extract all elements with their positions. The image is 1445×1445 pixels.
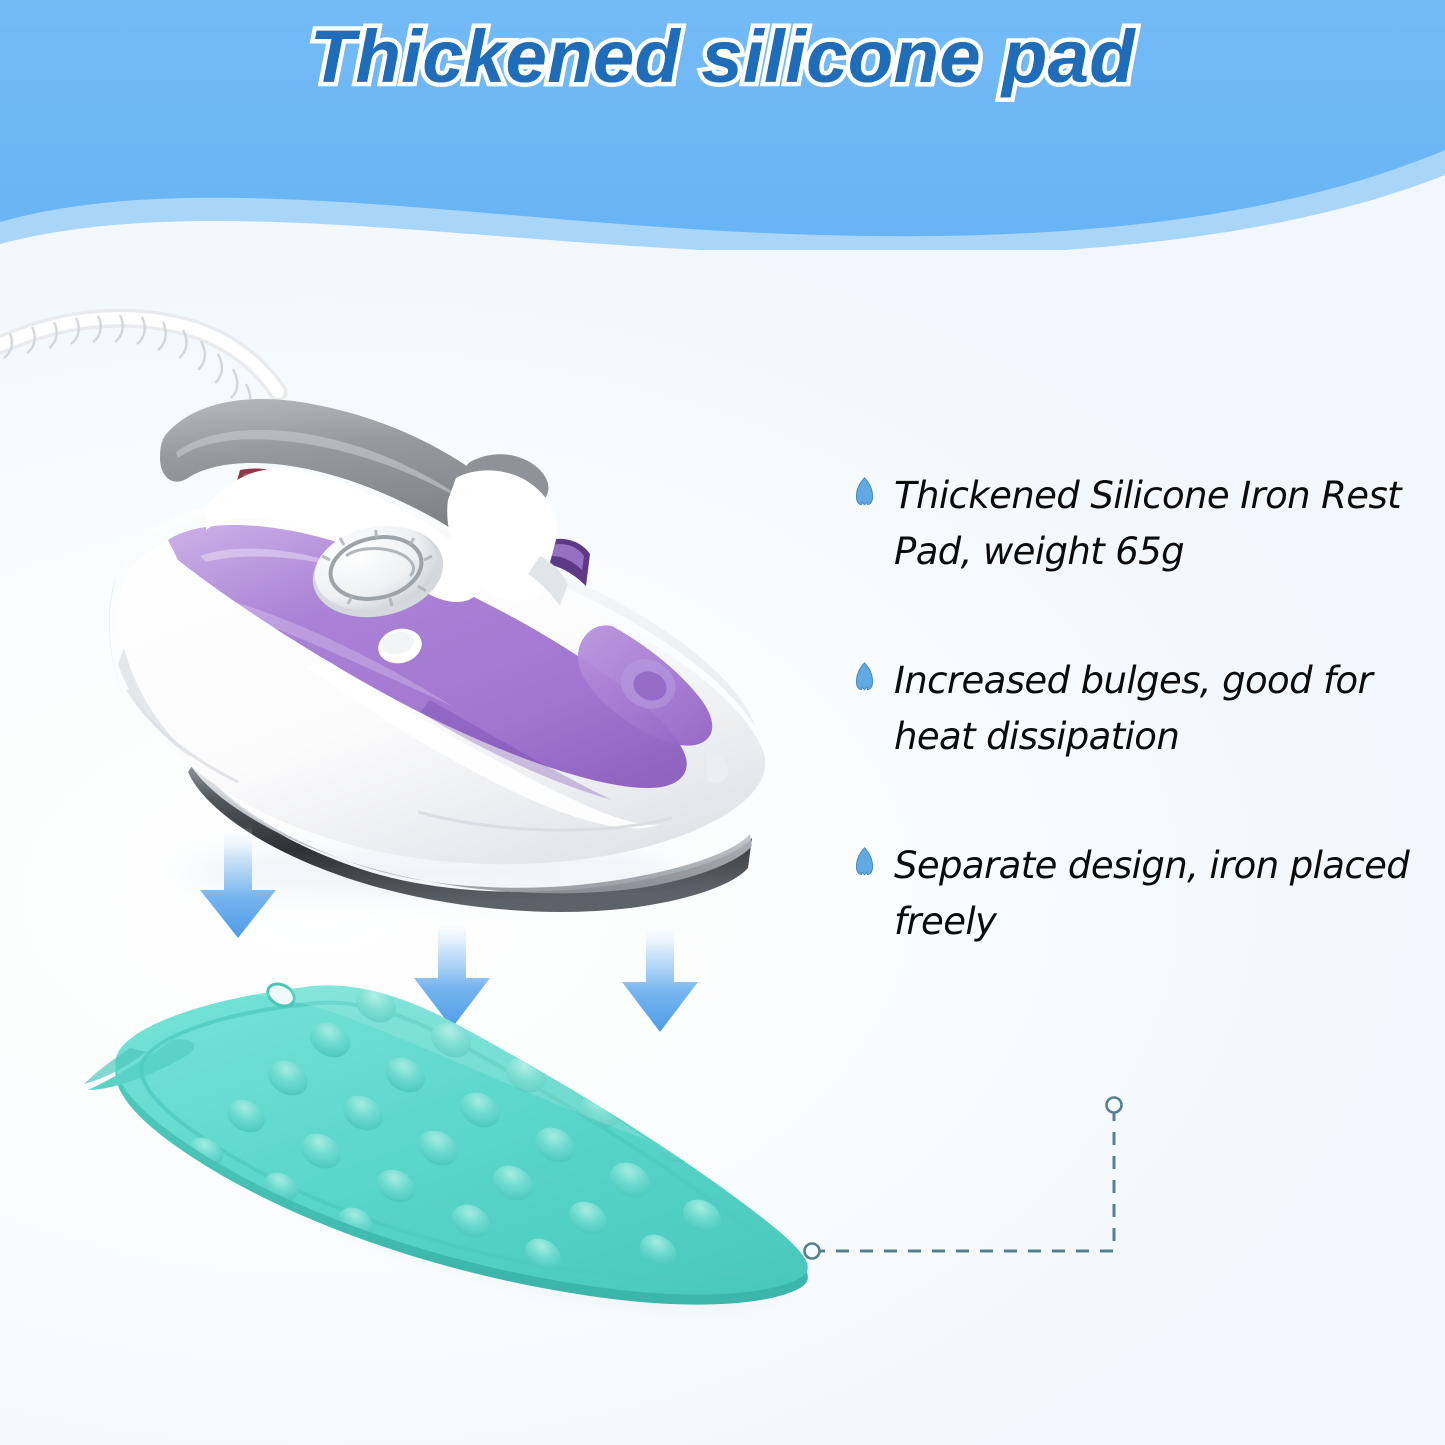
feature-text: Thickened Silicone Iron Rest Pad, weight… bbox=[894, 468, 1414, 579]
iron-pad-bullet-icon bbox=[855, 477, 874, 507]
steam-iron bbox=[109, 399, 766, 912]
feature-text: Separate design, iron placed freely bbox=[894, 838, 1414, 949]
list-item: Increased bulges, good for heat dissipat… bbox=[855, 653, 1430, 764]
iron-pad-bullet-icon bbox=[855, 847, 874, 877]
feature-text: Increased bulges, good for heat dissipat… bbox=[894, 653, 1414, 764]
list-item: Separate design, iron placed freely bbox=[855, 838, 1430, 949]
feature-list: Thickened Silicone Iron Rest Pad, weight… bbox=[855, 468, 1430, 949]
iron-power-cord bbox=[0, 315, 278, 413]
infographic-canvas: Thickened silicone pad Thickened silicon… bbox=[0, 0, 1445, 1445]
list-item: Thickened Silicone Iron Rest Pad, weight… bbox=[855, 468, 1430, 579]
flow-arrow-3 bbox=[622, 922, 698, 1032]
banner-title-outline: Thickened silicone pad bbox=[0, 14, 1445, 99]
iron-pad-bullet-icon bbox=[855, 662, 874, 692]
